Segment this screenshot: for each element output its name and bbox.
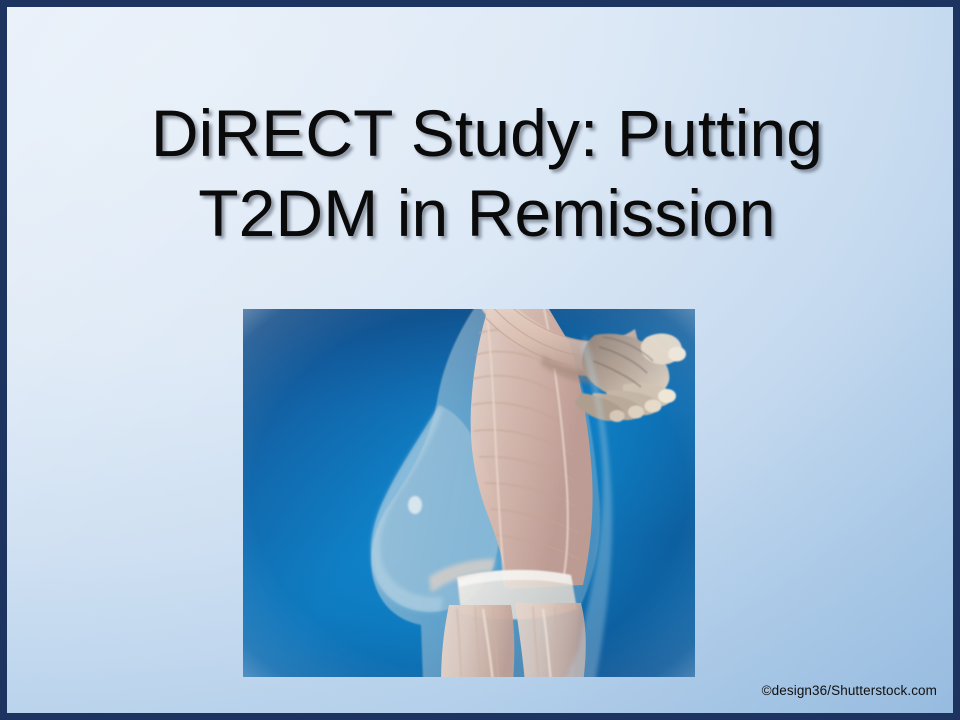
anatomy-figure-graphic (243, 309, 695, 677)
title-line-1: DiRECT Study: Putting (67, 93, 907, 173)
slide-title: DiRECT Study: Putting T2DM in Remission (67, 93, 907, 253)
presentation-slide: DiRECT Study: Putting T2DM in Remission (0, 0, 960, 720)
obesity-anatomy-illustration (243, 309, 695, 677)
image-credit: ©design36/Shutterstock.com (762, 683, 937, 699)
title-line-2: T2DM in Remission (67, 173, 907, 253)
